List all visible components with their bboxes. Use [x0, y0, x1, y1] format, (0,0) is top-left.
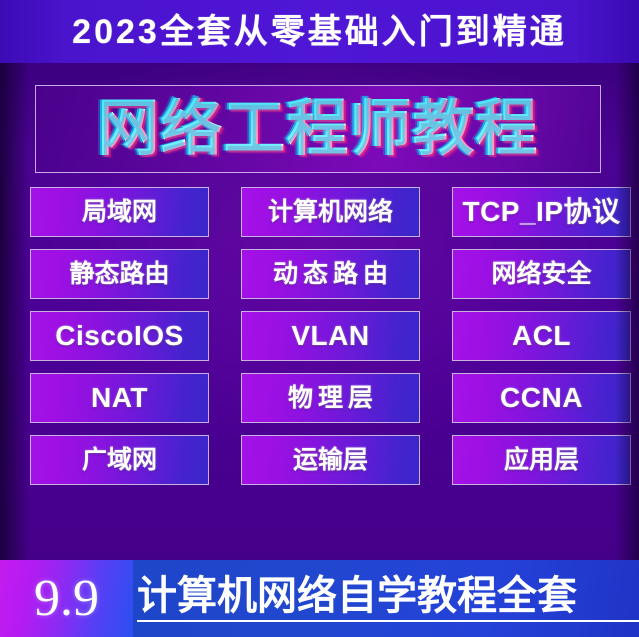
topic-tag[interactable]: 动态路由: [241, 249, 420, 299]
bottom-caption-underline: [137, 620, 639, 622]
poster-body: 网络工程师教程 局域网 计算机网络 TCP_IP协议 静态路由 动态路: [0, 63, 639, 560]
tag-row: 局域网 计算机网络 TCP_IP协议: [30, 187, 632, 237]
topic-tag[interactable]: CiscoIOS: [30, 311, 209, 361]
topic-tag[interactable]: 静态路由: [30, 249, 209, 299]
topic-tag[interactable]: 网络安全: [452, 249, 631, 299]
tag-row: 静态路由 动态路由 网络安全: [30, 249, 632, 299]
bottom-bar: 9.9 计算机网络自学教程全套: [0, 560, 639, 637]
topic-tag[interactable]: 广域网: [30, 435, 209, 485]
topic-tag-label: TCP_IP协议: [462, 198, 620, 226]
topic-tag-label: 应用层: [504, 448, 579, 473]
topic-tag[interactable]: ACL: [452, 311, 631, 361]
topic-tag-label: 物理层: [283, 386, 378, 411]
topic-tag-label: 动态路由: [268, 262, 393, 287]
tag-row: 广域网 运输层 应用层: [30, 435, 632, 485]
tag-row: CiscoIOS VLAN ACL: [30, 311, 632, 361]
topic-tag-label: VLAN: [291, 322, 369, 350]
header-title: 2023全套从零基础入门到精通: [72, 15, 567, 49]
bottom-caption-text: 计算机网络自学教程全套: [137, 575, 577, 617]
topic-tag[interactable]: 局域网: [30, 187, 209, 237]
topic-tag-label: 网络安全: [491, 262, 591, 287]
topic-tag-label: 计算机网络: [268, 200, 393, 225]
topic-tag[interactable]: CCNA: [452, 373, 631, 423]
topic-tag[interactable]: VLAN: [241, 311, 420, 361]
header-band: 2023全套从零基础入门到精通: [0, 0, 639, 63]
topic-tag[interactable]: NAT: [30, 373, 209, 423]
topic-tag-label: ACL: [512, 322, 571, 350]
topic-tag[interactable]: TCP_IP协议: [452, 187, 631, 237]
topic-tag[interactable]: 计算机网络: [241, 187, 420, 237]
bottom-caption-block: 计算机网络自学教程全套: [133, 560, 639, 637]
course-poster: 2023全套从零基础入门到精通 网络工程师教程 局域网 计算机网络 TCP_IP…: [0, 0, 639, 637]
topic-tag-label: NAT: [91, 384, 148, 412]
topic-tag[interactable]: 运输层: [241, 435, 420, 485]
topic-tag-label: 广域网: [82, 448, 157, 473]
topic-tag-label: CiscoIOS: [55, 322, 183, 350]
topic-tag-label: 运输层: [293, 448, 368, 473]
topic-tag[interactable]: 应用层: [452, 435, 631, 485]
topic-tag-label: 静态路由: [69, 262, 169, 287]
topic-tag[interactable]: 物理层: [241, 373, 420, 423]
price-value: 9.9: [34, 573, 99, 625]
tag-row: NAT 物理层 CCNA: [30, 373, 632, 423]
topic-tag-grid: 局域网 计算机网络 TCP_IP协议 静态路由 动态路由 网络安全: [30, 187, 632, 485]
topic-tag-label: 局域网: [82, 200, 157, 225]
main-title-box: 网络工程师教程: [35, 85, 601, 173]
main-title-text: 网络工程师教程: [97, 98, 538, 160]
topic-tag-label: CCNA: [500, 384, 583, 412]
price-block: 9.9: [0, 560, 133, 637]
